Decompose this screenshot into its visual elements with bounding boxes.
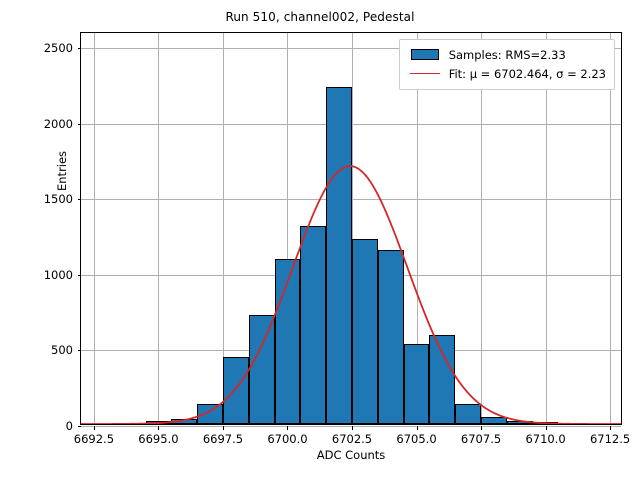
y-tick-mark [78,124,82,125]
x-tick-label: 6692.5 [74,432,114,446]
x-tick-mark [610,426,611,430]
y-tick-label: 2000 [44,117,73,131]
x-tick-label: 6707.5 [461,432,501,446]
x-tick-mark [481,426,482,430]
legend-line-icon [408,73,442,74]
y-tick-label: 0 [66,419,73,433]
x-tick-label: 6712.5 [590,432,630,446]
x-tick-mark [223,426,224,430]
x-tick-mark [417,426,418,430]
x-tick-mark [94,426,95,430]
legend-item-samples: Samples: RMS=2.33 [408,45,606,64]
legend-label-samples: Samples: RMS=2.33 [449,48,566,62]
y-tick-label: 500 [51,343,73,357]
legend-item-fit: Fit: μ = 6702.464, σ = 2.23 [408,64,606,83]
plot-area: 6692.56695.06697.56700.06702.56705.06707… [80,32,622,425]
legend: Samples: RMS=2.33 Fit: μ = 6702.464, σ =… [399,39,615,90]
y-tick-mark [78,275,82,276]
matplotlib-figure: Run 510, channel002, Pedestal 6692.56695… [0,0,640,480]
x-tick-mark [287,426,288,430]
x-tick-mark [158,426,159,430]
legend-label-fit: Fit: μ = 6702.464, σ = 2.23 [449,67,606,81]
y-tick-label: 1500 [44,192,73,206]
y-tick-label: 1000 [44,268,73,282]
x-tick-label: 6697.5 [203,432,243,446]
x-tick-mark [546,426,547,430]
x-tick-label: 6702.5 [332,432,372,446]
y-tick-mark [78,48,82,49]
y-tick-mark [78,199,82,200]
y-tick-mark [78,426,82,427]
gridline-horizontal [81,426,621,427]
x-tick-label: 6700.0 [267,432,307,446]
legend-patch-icon [408,49,442,60]
x-tick-label: 6710.0 [525,432,565,446]
x-tick-label: 6695.0 [138,432,178,446]
x-tick-label: 6705.0 [396,432,436,446]
x-axis-label: ADC Counts [80,448,622,462]
x-tick-mark [352,426,353,430]
gaussian-fit-curve [81,33,621,424]
y-tick-label: 2500 [44,41,73,55]
page-title: Run 510, channel002, Pedestal [0,10,640,24]
y-axis-label: Entries [55,151,69,191]
y-tick-mark [78,350,82,351]
